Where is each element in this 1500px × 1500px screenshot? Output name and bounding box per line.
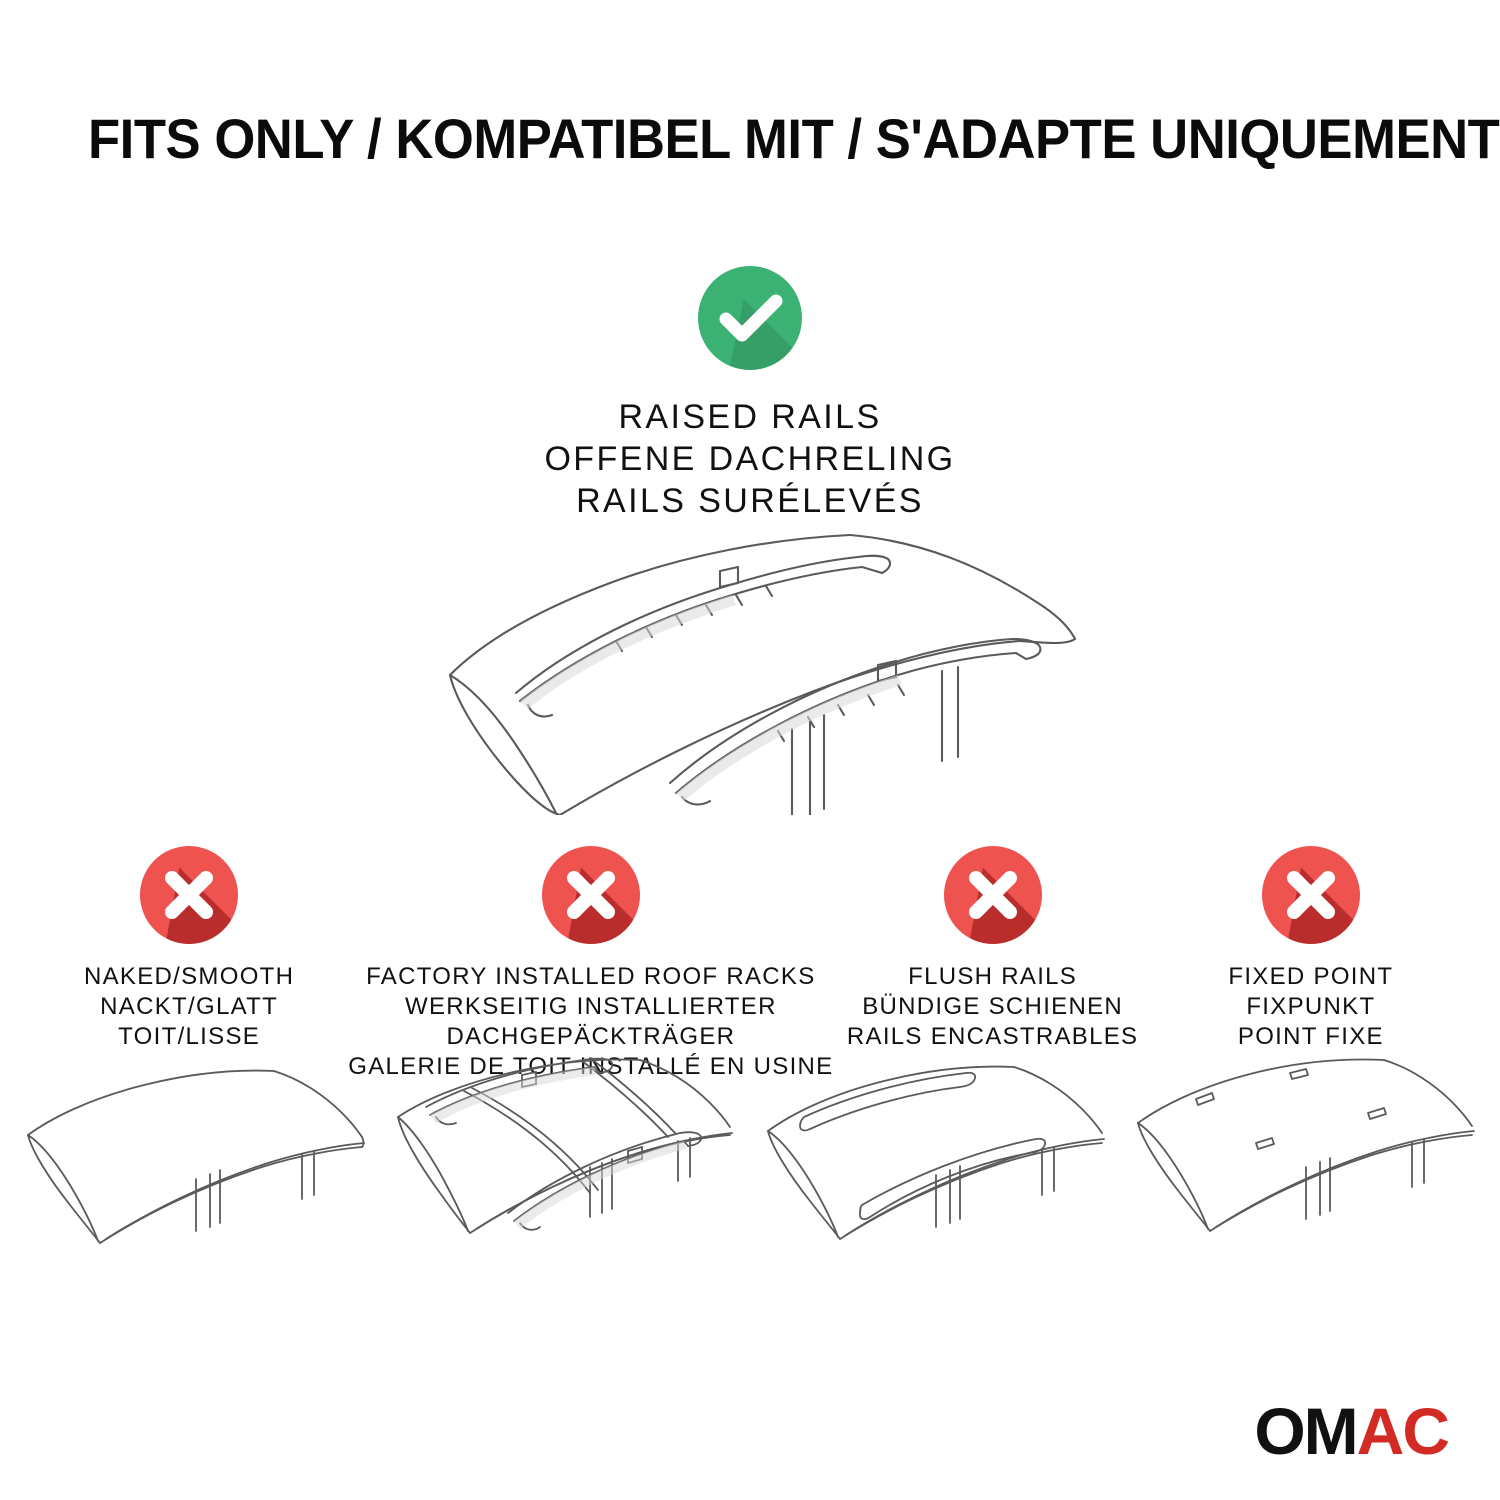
label-line-en: FACTORY INSTALLED ROOF RACKS — [348, 962, 833, 992]
incompatible-labels: NAKED/SMOOTH NACKT/GLATT TOIT/LISSE — [84, 962, 294, 1052]
compatible-label-en: RAISED RAILS — [544, 396, 955, 438]
x-mark-glyph — [542, 846, 640, 944]
x-circle-icon — [1262, 846, 1360, 944]
compatible-section: RAISED RAILS OFFENE DACHRELING RAILS SUR… — [0, 266, 1500, 522]
check-circle-icon — [698, 266, 802, 370]
label-line-de: FIXPUNKT — [1228, 992, 1393, 1022]
incompatible-labels: FLUSH RAILS BÜNDIGE SCHIENEN RAILS ENCAS… — [847, 962, 1139, 1052]
logo-text-red: AC — [1357, 1398, 1448, 1464]
label-line-de: NACKT/GLATT — [84, 992, 294, 1022]
fitment-infographic: FITS ONLY / KOMPATIBEL MIT / S'ADAPTE UN… — [0, 0, 1500, 1500]
label-line-fr: RAILS ENCASTRABLES — [847, 1022, 1139, 1052]
flush-rails-illustration — [750, 1055, 1120, 1275]
check-mark-glyph — [698, 266, 802, 370]
label-line-fr: POINT FIXE — [1228, 1022, 1393, 1052]
incompatible-illustrations — [10, 1055, 1490, 1275]
label-line-en: FIXED POINT — [1228, 962, 1393, 992]
x-mark-glyph — [140, 846, 238, 944]
logo-text-dark: OM — [1254, 1398, 1356, 1464]
compatible-labels: RAISED RAILS OFFENE DACHRELING RAILS SUR… — [544, 396, 955, 522]
x-circle-icon — [542, 846, 640, 944]
label-line-en: FLUSH RAILS — [847, 962, 1139, 992]
x-mark-glyph — [1262, 846, 1360, 944]
naked-smooth-illustration — [10, 1055, 380, 1275]
factory-racks-illustration — [380, 1055, 750, 1275]
raised-rails-illustration — [0, 505, 1500, 815]
incompatible-section: NAKED/SMOOTH NACKT/GLATT TOIT/LISSE FACT… — [30, 846, 1470, 1082]
label-line-de-1: WERKSEITIG INSTALLIERTER — [348, 992, 833, 1022]
label-line-en: NAKED/SMOOTH — [84, 962, 294, 992]
incompatible-item-fixed-point: FIXED POINT FIXPUNKT POINT FIXE — [1152, 846, 1470, 1082]
x-circle-icon — [944, 846, 1042, 944]
page-title: FITS ONLY / KOMPATIBEL MIT / S'ADAPTE UN… — [88, 108, 1348, 170]
compatible-label-de: OFFENE DACHRELING — [544, 438, 955, 480]
incompatible-labels: FIXED POINT FIXPUNKT POINT FIXE — [1228, 962, 1393, 1052]
label-line-de-2: DACHGEPÄCKTRÄGER — [348, 1022, 833, 1052]
label-line-fr: TOIT/LISSE — [84, 1022, 294, 1052]
fixed-point-illustration — [1120, 1055, 1490, 1275]
incompatible-item-factory-racks: FACTORY INSTALLED ROOF RACKS WERKSEITIG … — [348, 846, 833, 1082]
incompatible-item-flush-rails: FLUSH RAILS BÜNDIGE SCHIENEN RAILS ENCAS… — [834, 846, 1152, 1082]
omac-logo: OM AC — [1254, 1398, 1448, 1464]
label-line-de: BÜNDIGE SCHIENEN — [847, 992, 1139, 1022]
x-circle-icon — [140, 846, 238, 944]
x-mark-glyph — [944, 846, 1042, 944]
incompatible-item-naked-smooth: NAKED/SMOOTH NACKT/GLATT TOIT/LISSE — [30, 846, 348, 1082]
